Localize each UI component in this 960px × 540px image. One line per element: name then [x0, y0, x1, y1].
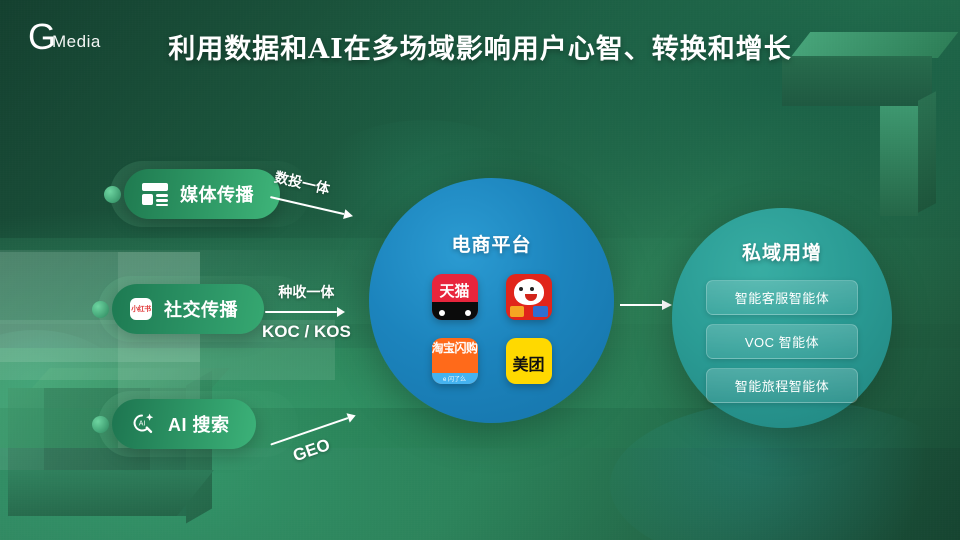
ecommerce-circle[interactable]: 电商平台 天猫 京东 淘宝闪购 e 闪了么 [369, 178, 614, 423]
pill-dot-media [104, 186, 121, 203]
agent-chip-service[interactable]: 智能客服智能体 [706, 280, 858, 315]
app-label-meituan: 美团 [506, 351, 552, 375]
app-label-tmall: 天猫 [432, 280, 478, 301]
slide-canvas: G Media 利用数据和AI在多场域影响用户心智、转换和增长 媒体传播 小红书… [0, 0, 960, 540]
agent-chip-voc[interactable]: VOC 智能体 [706, 324, 858, 359]
media-layout-icon [142, 182, 168, 206]
channel-aisearch-pill[interactable]: AI AI 搜索 [112, 399, 256, 449]
private-domain-agent-list: 智能客服智能体 VOC 智能体 智能旅程智能体 [706, 280, 858, 403]
connector-label-social-secondary: KOC / KOS [262, 322, 351, 342]
private-domain-circle[interactable]: 私域用增 智能客服智能体 VOC 智能体 智能旅程智能体 [672, 208, 892, 428]
right-arrow-icon [620, 300, 672, 310]
private-domain-title: 私域用增 [672, 238, 892, 265]
svg-text:AI: AI [139, 421, 146, 428]
ai-search-icon: AI [130, 411, 156, 437]
agent-chip-journey[interactable]: 智能旅程智能体 [706, 368, 858, 403]
page-title: 利用数据和AI在多场域影响用户心智、转换和增长 [0, 27, 960, 66]
channel-label-social: 社交传播 [164, 296, 238, 322]
app-icon-tmall[interactable]: 天猫 [432, 274, 478, 320]
channel-social-pill[interactable]: 小红书 社交传播 [112, 284, 264, 334]
app-icon-taobao-shangou[interactable]: 淘宝闪购 e 闪了么 [432, 338, 478, 384]
app-icon-meituan[interactable]: 美团 [506, 338, 552, 384]
pill-dot-social [92, 301, 109, 318]
app-icon-jd[interactable]: 京东 [506, 274, 552, 320]
channel-label-aisearch: AI 搜索 [168, 411, 230, 437]
connector-label-social-primary: 种收一体 [262, 282, 351, 302]
channel-media-pill[interactable]: 媒体传播 [124, 169, 280, 219]
ecommerce-app-grid: 天猫 京东 淘宝闪购 e 闪了么 美团 [432, 274, 552, 384]
app-label-taobao-shangou: 淘宝闪购 [432, 342, 478, 355]
xiaohongshu-icon: 小红书 [130, 298, 152, 320]
connector-arrow-social [265, 307, 347, 317]
pill-dot-aisearch [92, 416, 109, 433]
channel-label-media: 媒体传播 [180, 181, 254, 207]
connector-social: 种收一体 KOC / KOS [262, 282, 351, 342]
ecommerce-title: 电商平台 [369, 230, 614, 257]
